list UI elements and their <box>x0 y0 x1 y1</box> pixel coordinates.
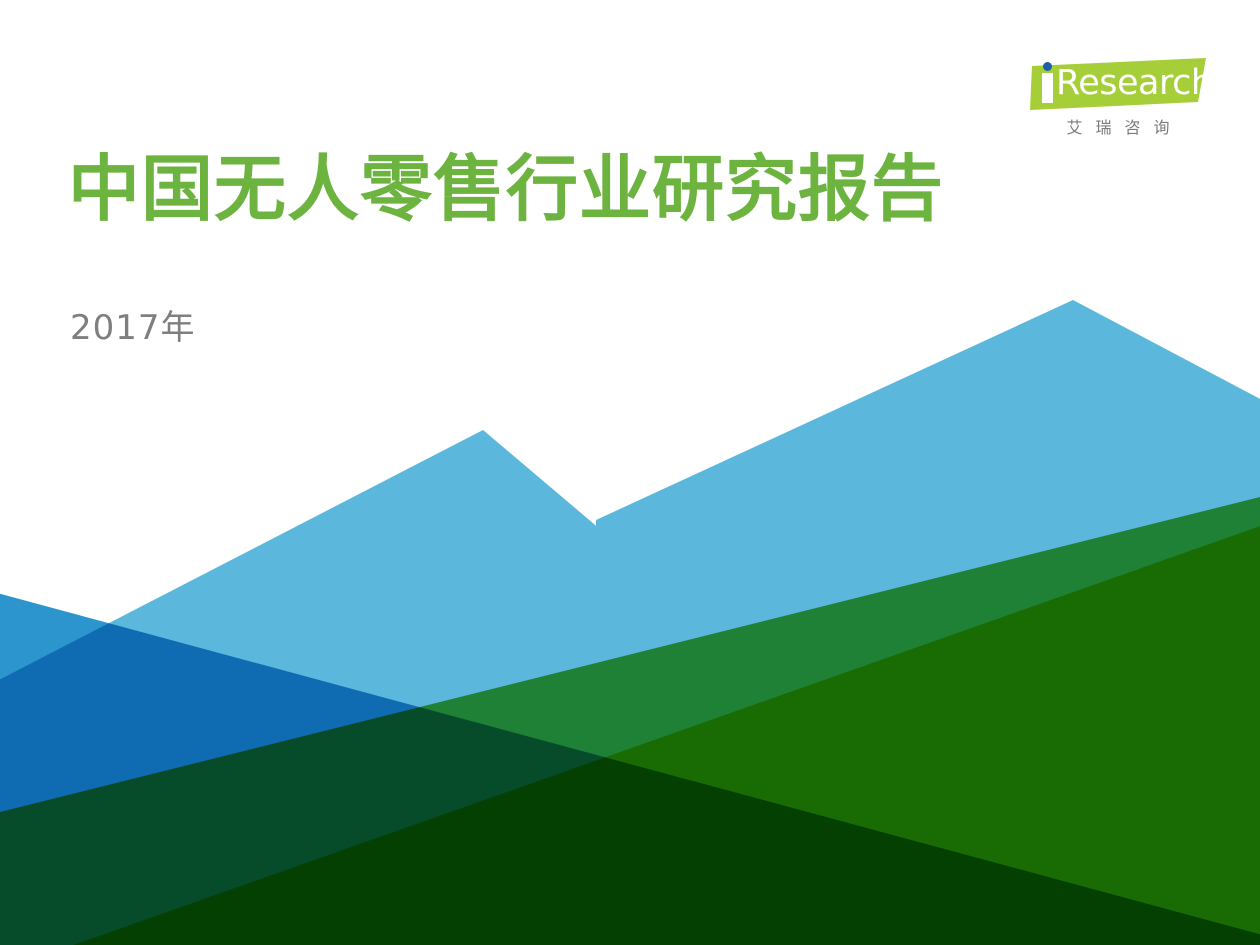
logo-mark: Research <box>1030 58 1206 110</box>
logo-dot-icon <box>1043 62 1052 71</box>
logo-chinese-name: 艾瑞咨询 <box>1030 114 1206 138</box>
page-subtitle: 2017年 <box>70 300 196 349</box>
iresearch-logo: Research 艾瑞咨询 <box>1030 58 1206 150</box>
logo-wordmark: Research <box>1056 64 1213 102</box>
logo-letter-i <box>1042 73 1053 103</box>
page-title: 中国无人零售行业研究报告 <box>68 150 944 229</box>
report-cover-slide: Research 艾瑞咨询 中国无人零售行业研究报告 2017年 <box>0 0 1260 945</box>
